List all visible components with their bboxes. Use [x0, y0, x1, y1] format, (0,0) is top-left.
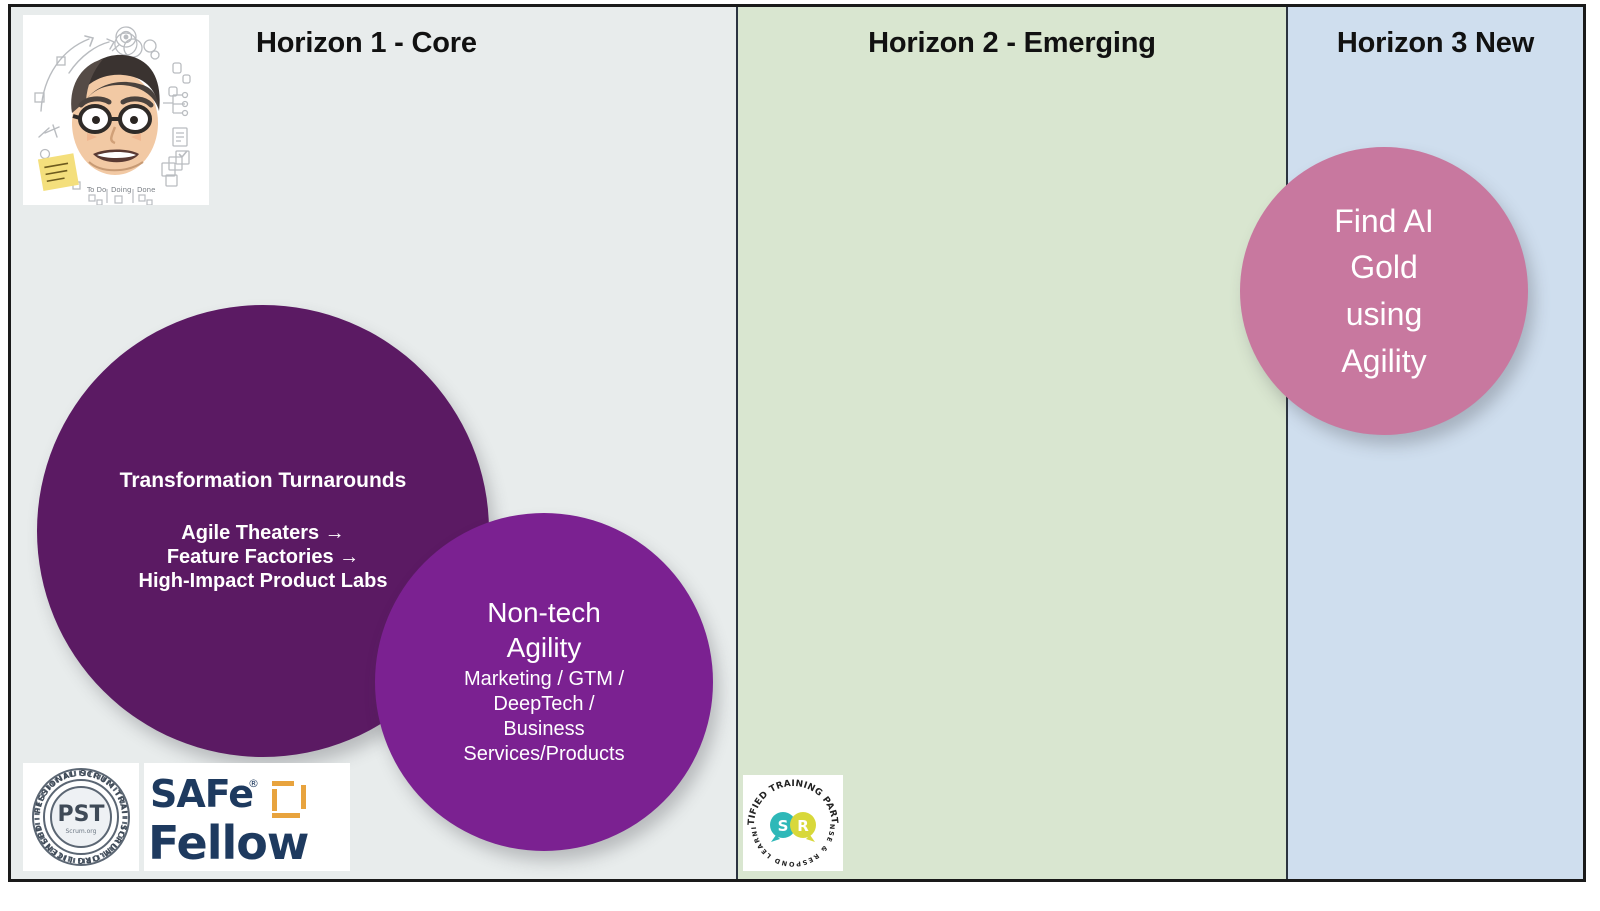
bubble-title: Find AIGoldusingAgility — [1250, 198, 1518, 385]
bubble-subtitle: Marketing / GTM /DeepTech /BusinessServi… — [385, 667, 703, 768]
professional-scrum-trainer-badge-icon: PROFESSIONAL SCRUM TRAINER SCRUM.ORG LIC… — [23, 763, 139, 871]
column-title-horizon-3: Horizon 3 New — [1288, 27, 1583, 60]
bubble-find-ai-gold[interactable]: Find AIGoldusingAgility — [1240, 147, 1528, 435]
column-title-horizon-1: Horizon 1 - Core — [256, 27, 736, 60]
column-horizon-3: Horizon 3 New — [1288, 7, 1583, 879]
svg-text:PST: PST — [58, 802, 105, 827]
svg-text:Fellow: Fellow — [148, 816, 308, 870]
svg-text:Done: Done — [137, 186, 155, 194]
bubble-line-2: Feature Factories → — [47, 545, 479, 569]
svg-text:SAFe: SAFe — [150, 772, 253, 816]
safe-fellow-logo-icon: SAFe ® Fellow — [144, 763, 350, 871]
pst-badge: PROFESSIONAL SCRUM TRAINER SCRUM.ORG LIC… — [23, 763, 139, 871]
bubble-line-1: Agile Theaters → — [47, 521, 479, 545]
bubble-non-tech-agility[interactable]: Non-techAgility Marketing / GTM /DeepTec… — [375, 513, 713, 851]
svg-text:®: ® — [248, 777, 259, 790]
bubble-heading: Transformation Turnarounds — [47, 469, 479, 494]
diagram-frame: Horizon 1 - Core — [8, 4, 1586, 882]
column-title-horizon-2: Horizon 2 - Emerging — [738, 27, 1286, 60]
svg-text:Scrum.org: Scrum.org — [66, 828, 97, 835]
avatar: To DoDoingDone — [23, 15, 209, 205]
safe-fellow-logo: SAFe ® Fellow — [144, 763, 350, 871]
column-horizon-2: Horizon 2 - Emerging Organization-level … — [736, 7, 1288, 879]
svg-text:To Do: To Do — [86, 186, 106, 194]
svg-text:S: S — [778, 817, 789, 835]
certified-training-partner-badge: CERTIFIED TRAINING PARTNER SENSE & RESPO… — [743, 775, 843, 871]
svg-text:R: R — [797, 817, 809, 835]
diagram-canvas: Horizon 1 - Core — [0, 0, 1600, 911]
certified-training-partner-badge-icon: CERTIFIED TRAINING PARTNER SENSE & RESPO… — [743, 775, 843, 871]
bubble-title: Non-techAgility — [385, 596, 703, 664]
svg-text:Doing: Doing — [111, 186, 132, 194]
column-horizon-1: Horizon 1 - Core — [11, 7, 736, 879]
caricature-avatar-icon: To DoDoingDone — [23, 15, 209, 205]
